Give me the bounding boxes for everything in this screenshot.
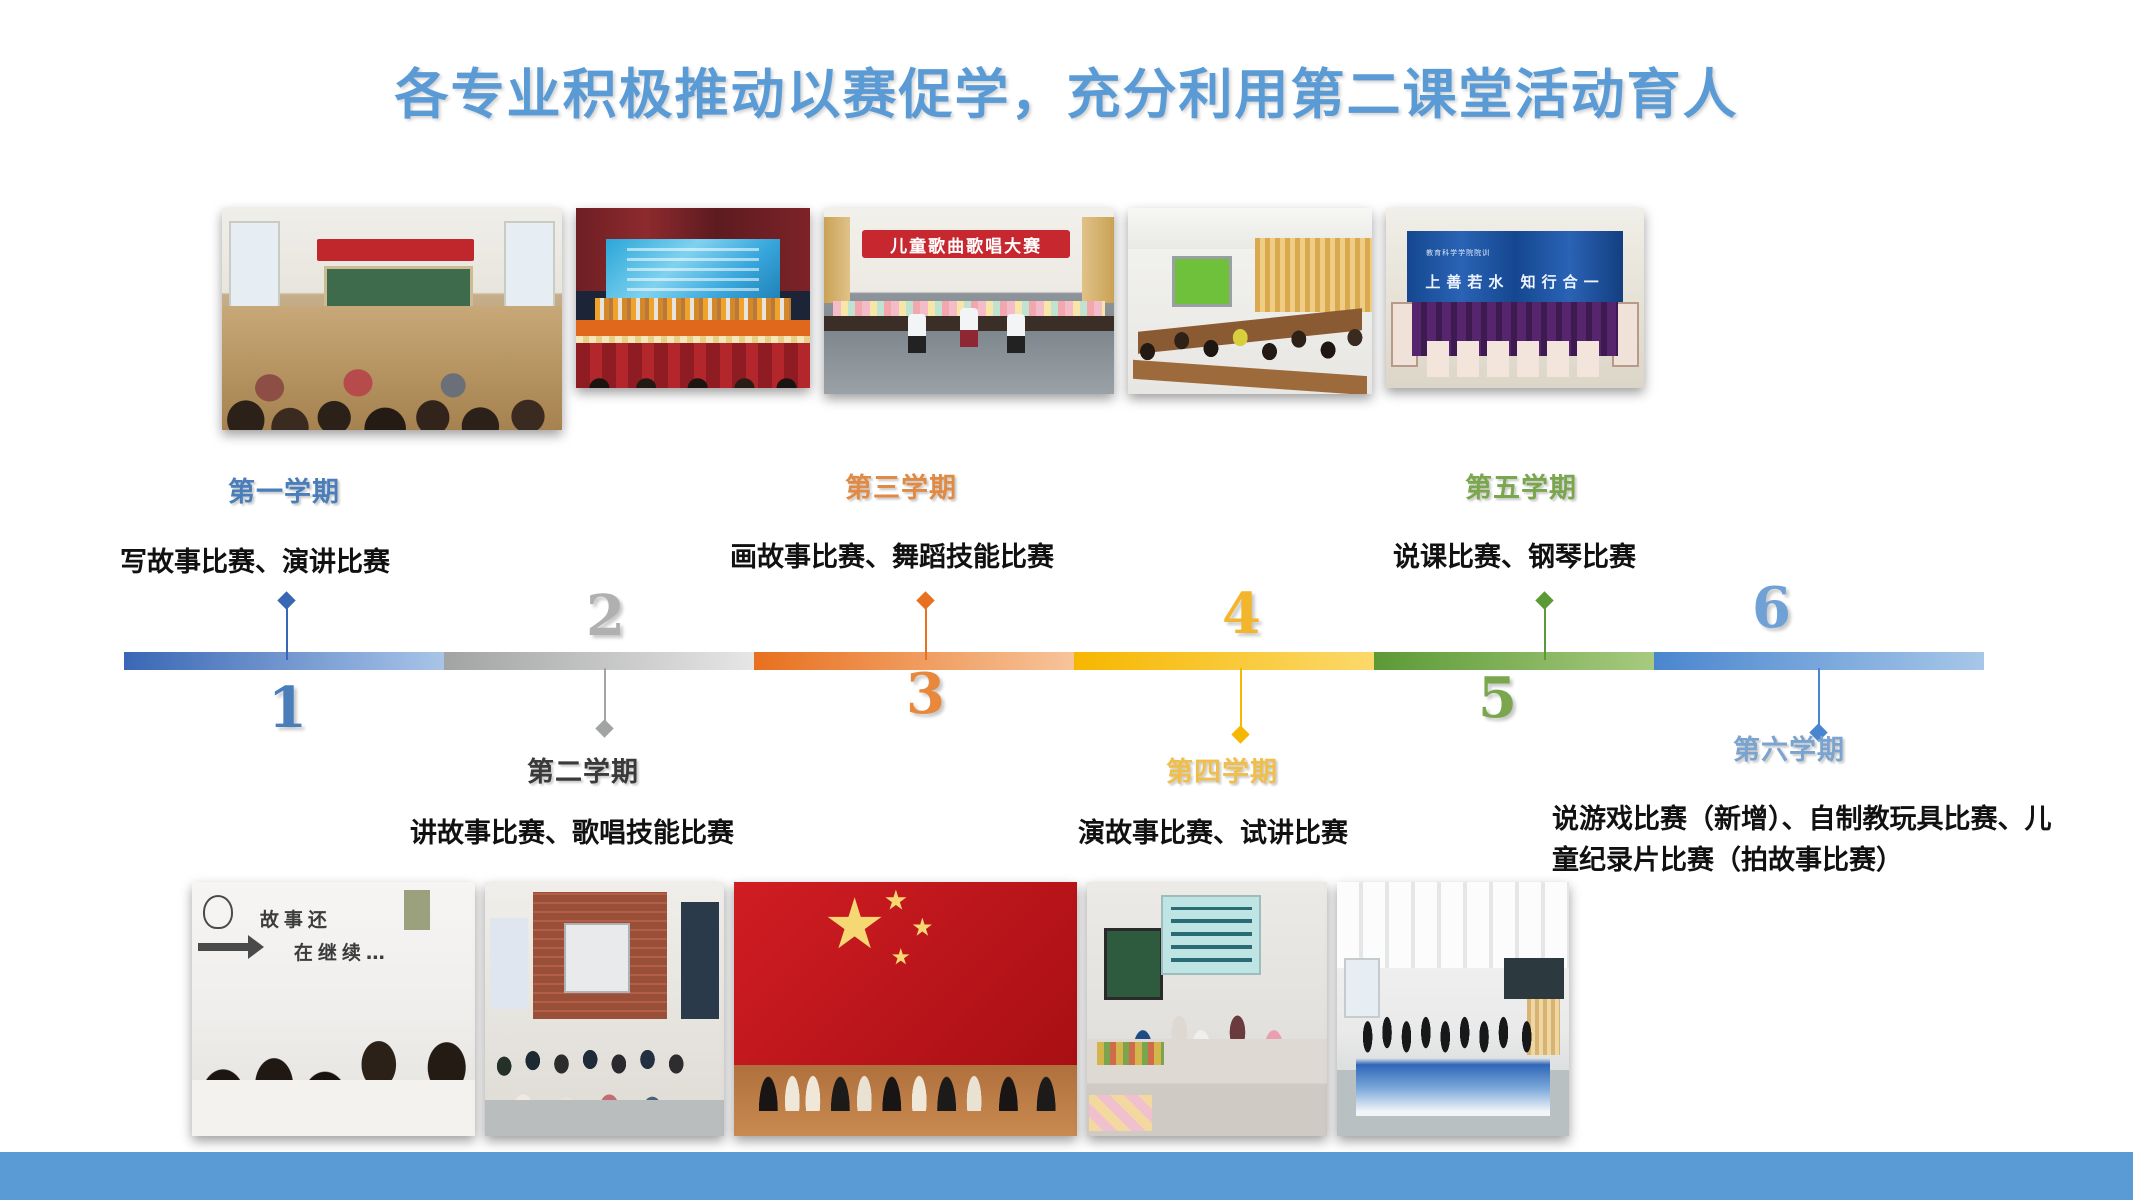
semester-1-description: 写故事比赛、演讲比赛 <box>120 543 390 584</box>
red-banner <box>317 239 473 261</box>
photo-auditorium-stage-ceremony <box>576 208 810 388</box>
timeline-segment-1 <box>124 652 444 670</box>
hanging-cloth <box>404 890 429 931</box>
timeline-diamond-1 <box>277 591 295 609</box>
hall-mirror-right <box>1504 958 1564 999</box>
arrow-icon <box>198 943 250 951</box>
semester-3-title: 第三学期 <box>845 466 957 505</box>
backdrop-subtitle: 教育科学学院院训 <box>1426 248 1490 258</box>
curtain-left <box>824 217 850 303</box>
semester-6-title: 第六学期 <box>1733 728 1845 767</box>
semester-4-description: 演故事比赛、试讲比赛 <box>1078 814 1348 855</box>
timeline-number-6: 6 <box>1752 580 1791 636</box>
timeline-number-2: 2 <box>586 588 625 644</box>
performer-2 <box>960 308 978 347</box>
craft-items <box>1097 1042 1164 1065</box>
window-right <box>504 221 556 318</box>
photo-craft-toy-classroom <box>1087 882 1327 1136</box>
timeline-segment-4 <box>1074 652 1374 670</box>
photo-college-motto-group: 教育科学学院院训 上善若水 知行合一 <box>1386 208 1644 388</box>
timeline-diamond-4 <box>1231 725 1249 743</box>
timeline-number-4: 4 <box>1222 586 1261 642</box>
slide-canvas: 各专业积极推动以赛促学，充分利用第二课堂活动育人 儿童歌曲歌唱大赛 <box>0 0 2133 1200</box>
performer-3 <box>1007 314 1025 353</box>
photo-classroom-story-contest <box>222 208 562 430</box>
timeline-number-5: 5 <box>1478 670 1517 726</box>
semester-5-description: 说课比赛、钢琴比赛 <box>1393 538 1636 579</box>
timeline-diamond-2 <box>595 719 613 737</box>
curtain-right <box>1082 217 1114 303</box>
shelf-left <box>490 918 528 1009</box>
photo-brick-classroom-ensemble <box>485 882 724 1136</box>
semester-2-description: 讲故事比赛、歌唱技能比赛 <box>410 814 734 855</box>
backdrop-motto: 上善若水 知行合一 <box>1407 271 1624 292</box>
photo-seminar-room <box>1128 208 1372 394</box>
semester-3-description: 画故事比赛、舞蹈技能比赛 <box>730 538 1054 579</box>
top-photo-row: 儿童歌曲歌唱大赛 教育科学学院院训 上善若水 知行合一 <box>222 208 1644 430</box>
timeline-segment-2 <box>444 652 754 670</box>
audience-heads <box>576 359 810 388</box>
meeting-table <box>192 1080 475 1136</box>
wall-text-line1: 故事还 <box>260 905 332 932</box>
photo-choir-red-flag <box>734 882 1077 1136</box>
artwork-frames <box>1427 341 1602 377</box>
contest-banner: 儿童歌曲歌唱大赛 <box>862 230 1071 258</box>
coffered-ceiling <box>1337 882 1569 968</box>
dance-group <box>1356 1009 1551 1116</box>
bottom-accent-bar <box>0 1152 2133 1200</box>
page-title: 各专业积极推动以赛促学，充分利用第二课堂活动育人 <box>0 50 2133 129</box>
seated-audience <box>222 306 562 430</box>
projection-board <box>564 923 630 993</box>
contest-banner-text: 儿童歌曲歌唱大赛 <box>862 230 1071 258</box>
semester-2-title: 第二学期 <box>527 750 639 789</box>
colored-papers <box>1089 1095 1151 1131</box>
semester-6-description: 说游戏比赛（新增）、自制教玩具比赛、儿童纪录片比赛（拍故事比赛） <box>1552 800 2062 881</box>
photo-dance-hall <box>1337 882 1569 1136</box>
timeline-diamond-5 <box>1535 591 1553 609</box>
window-left <box>229 221 281 318</box>
hot-air-balloon-icon <box>203 895 233 929</box>
photo-children-song-contest: 儿童歌曲歌唱大赛 <box>824 208 1114 394</box>
choir-members <box>734 989 1077 1111</box>
ensemble-group <box>485 999 724 1111</box>
timeline-number-1: 1 <box>268 680 307 736</box>
photo-white-wall-discussion: 故事还 在继续… <box>192 882 475 1136</box>
projected-slide <box>1161 895 1261 975</box>
classroom-floor <box>485 1100 724 1136</box>
timeline-diamond-3 <box>916 591 934 609</box>
bottom-photo-row: 故事还 在继续… <box>192 882 1569 1136</box>
performer-1 <box>908 314 926 353</box>
screen-text <box>627 248 758 291</box>
semester-5-title: 第五学期 <box>1465 466 1577 505</box>
timeline-bar <box>124 652 1984 670</box>
semester-4-title: 第四学期 <box>1166 750 1278 789</box>
semester-1-title: 第一学期 <box>228 470 340 509</box>
timeline-number-3: 3 <box>906 666 945 722</box>
